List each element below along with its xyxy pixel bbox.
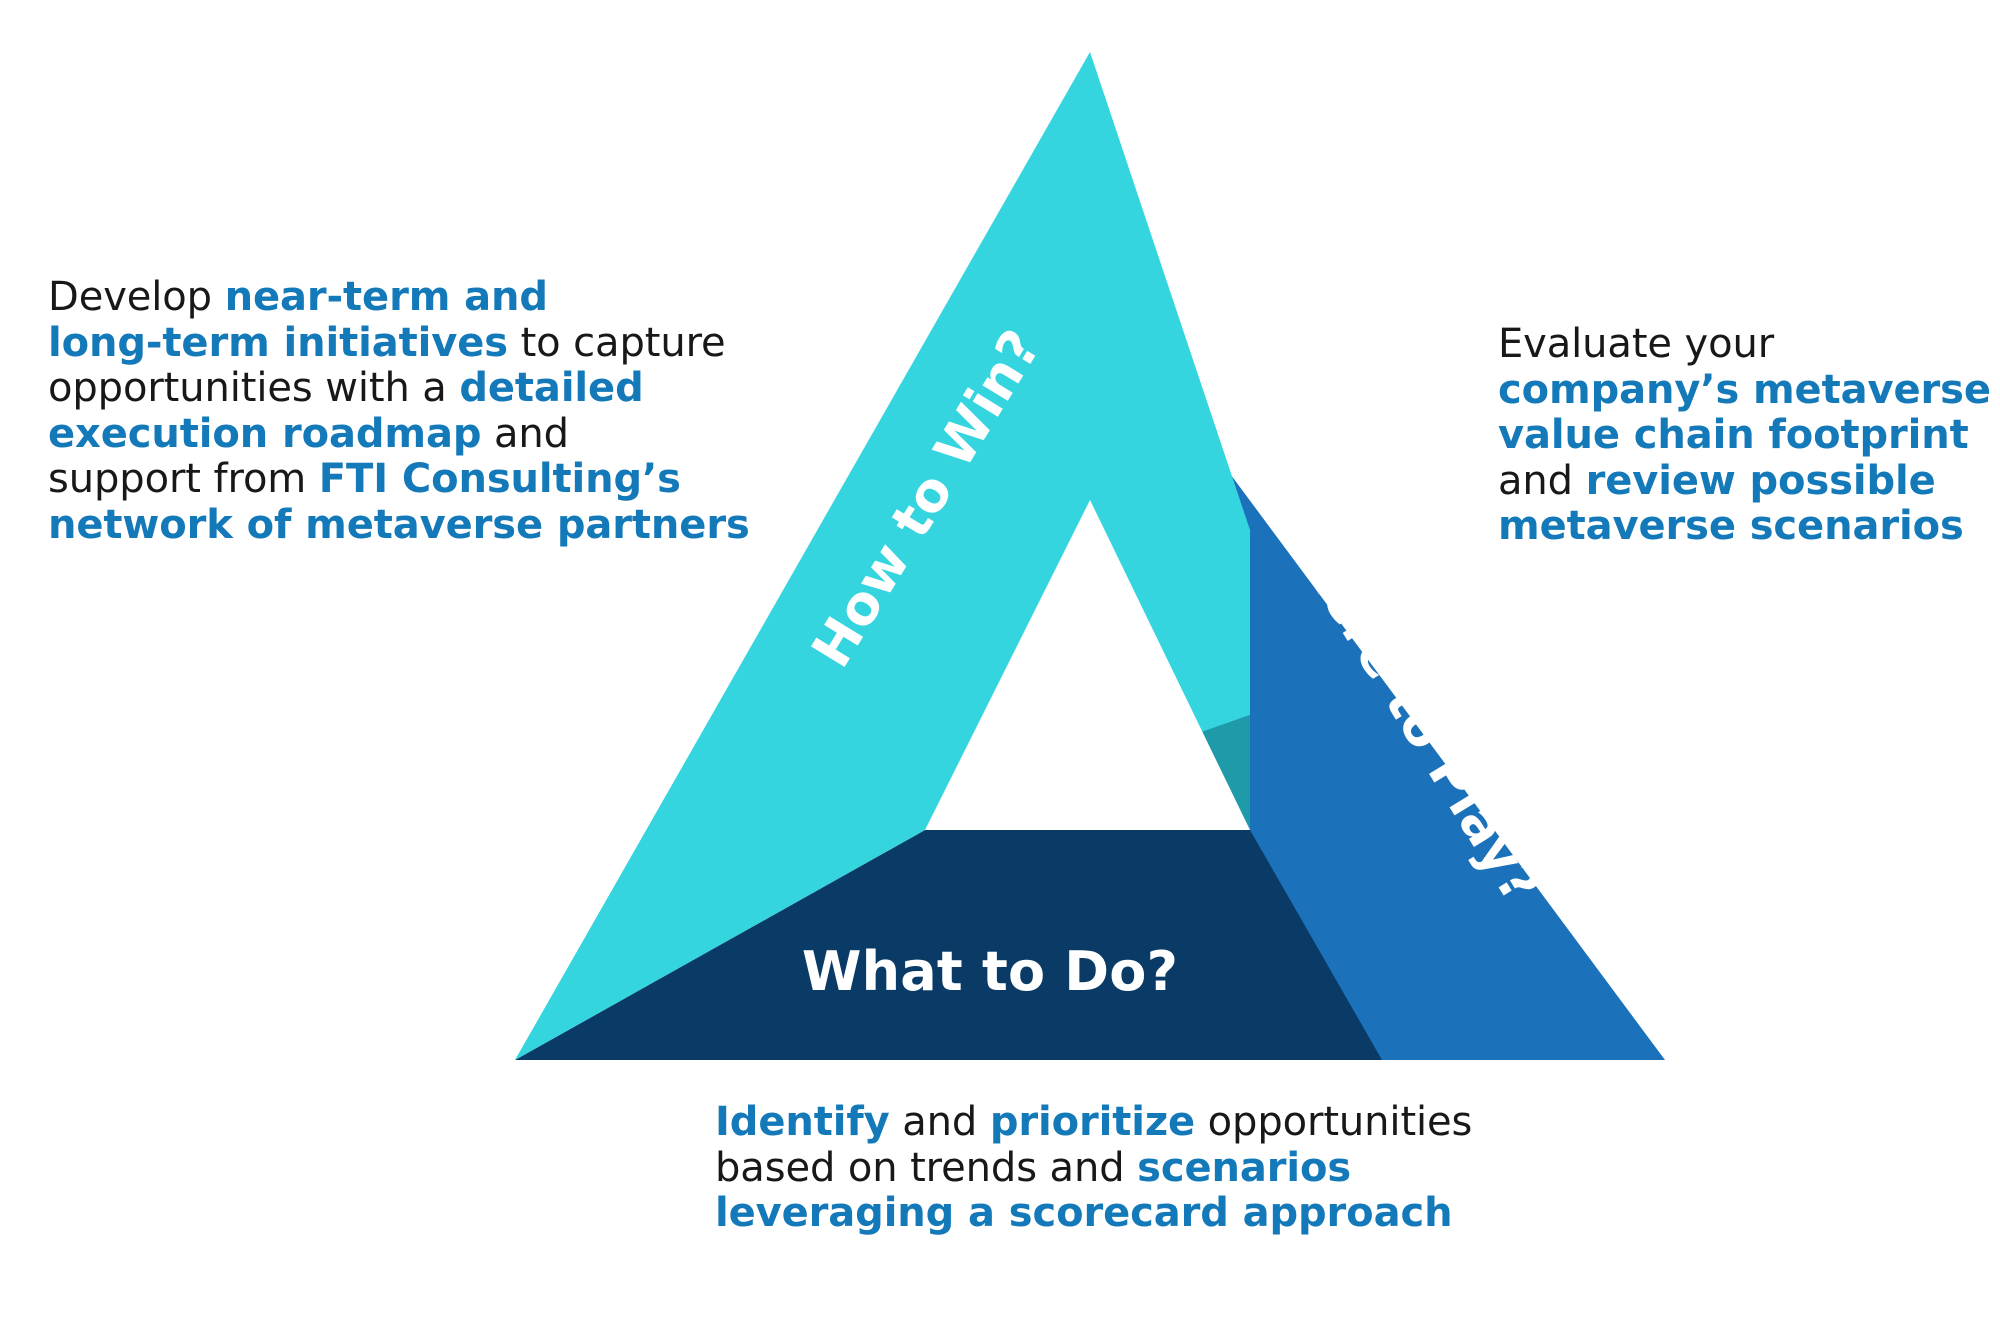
caption-emphasis: execution roadmap bbox=[48, 411, 481, 457]
caption-line: Evaluate your bbox=[1498, 322, 1968, 368]
caption-plain: opportunities with a bbox=[48, 365, 459, 411]
caption-line: company’s metaverse bbox=[1498, 368, 1968, 414]
caption-emphasis: leveraging a scorecard approach bbox=[715, 1190, 1452, 1236]
caption-line: and review possible bbox=[1498, 459, 1968, 505]
caption-line: network of metaverse partners bbox=[48, 503, 708, 549]
caption-line: execution roadmap and bbox=[48, 412, 708, 458]
caption-where-to-play: Evaluate yourcompany’s metaversevalue ch… bbox=[1498, 322, 1968, 550]
caption-line: support from FTI Consulting’s bbox=[48, 457, 708, 503]
caption-plain: to capture bbox=[508, 320, 726, 366]
caption-line: Identify and prioritize opportunities bbox=[715, 1100, 1475, 1146]
caption-emphasis: review possible bbox=[1586, 458, 1936, 504]
caption-line: opportunities with a detailed bbox=[48, 366, 708, 412]
caption-emphasis: near-term and bbox=[225, 274, 548, 320]
caption-emphasis: value chain footprint bbox=[1498, 412, 1969, 458]
caption-line: metaverse scenarios bbox=[1498, 504, 1968, 550]
caption-line: Develop near-term and bbox=[48, 275, 708, 321]
band-label-what-to-do: What to Do? bbox=[802, 940, 1178, 1003]
diagram-canvas: How to Win? Where to Play? What to Do? D… bbox=[0, 0, 2000, 1334]
caption-line: based on trends and scenarios bbox=[715, 1146, 1475, 1192]
caption-plain: Evaluate your bbox=[1498, 321, 1774, 367]
caption-line: value chain footprint bbox=[1498, 413, 1968, 459]
caption-emphasis: detailed bbox=[459, 365, 643, 411]
caption-plain: and bbox=[481, 411, 569, 457]
caption-plain: and bbox=[890, 1099, 990, 1145]
caption-emphasis: scenarios bbox=[1137, 1145, 1351, 1191]
caption-emphasis: FTI Consulting’s bbox=[319, 456, 681, 502]
caption-plain: support from bbox=[48, 456, 319, 502]
caption-emphasis: metaverse scenarios bbox=[1498, 503, 1964, 549]
caption-line: leveraging a scorecard approach bbox=[715, 1191, 1475, 1237]
caption-plain: and bbox=[1498, 458, 1586, 504]
caption-emphasis: prioritize bbox=[990, 1099, 1195, 1145]
caption-plain: based on trends and bbox=[715, 1145, 1137, 1191]
caption-how-to-win: Develop near-term andlong-term initiativ… bbox=[48, 275, 708, 549]
caption-emphasis: network of metaverse partners bbox=[48, 502, 750, 548]
caption-plain: Develop bbox=[48, 274, 225, 320]
caption-emphasis: company’s metaverse bbox=[1498, 367, 1991, 413]
caption-emphasis: Identify bbox=[715, 1099, 890, 1145]
caption-what-to-do: Identify and prioritize opportunitiesbas… bbox=[715, 1100, 1475, 1237]
caption-emphasis: long-term initiatives bbox=[48, 320, 508, 366]
band-label-what-to-do-group: What to Do? bbox=[802, 940, 1178, 1003]
caption-line: long-term initiatives to capture bbox=[48, 321, 708, 367]
caption-plain: opportunities bbox=[1195, 1099, 1472, 1145]
